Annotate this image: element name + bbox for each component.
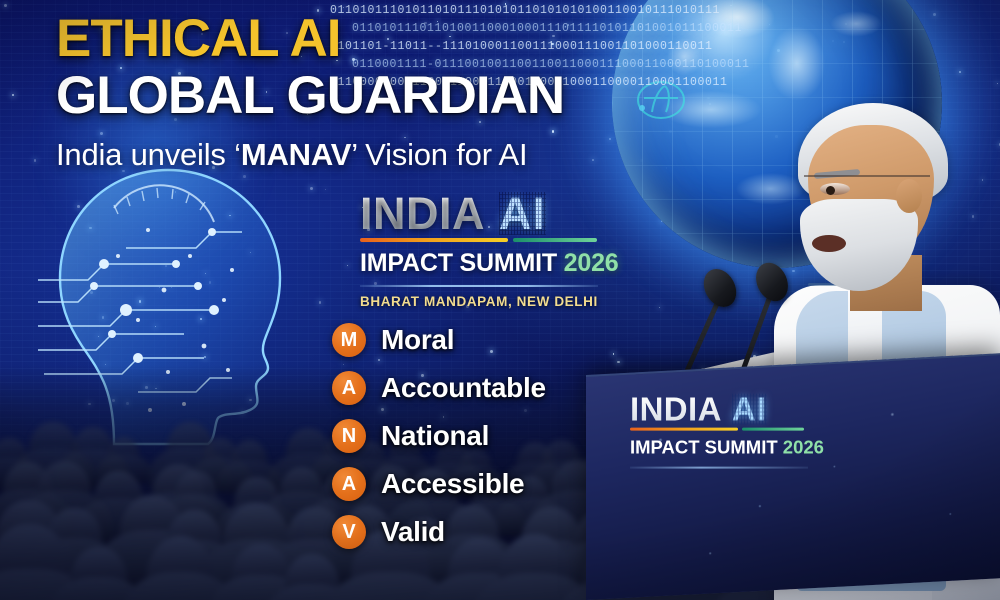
vignette-overlay [0,0,1000,600]
poster-canvas: 0110101110101101011101010110101010100110… [0,0,1000,600]
